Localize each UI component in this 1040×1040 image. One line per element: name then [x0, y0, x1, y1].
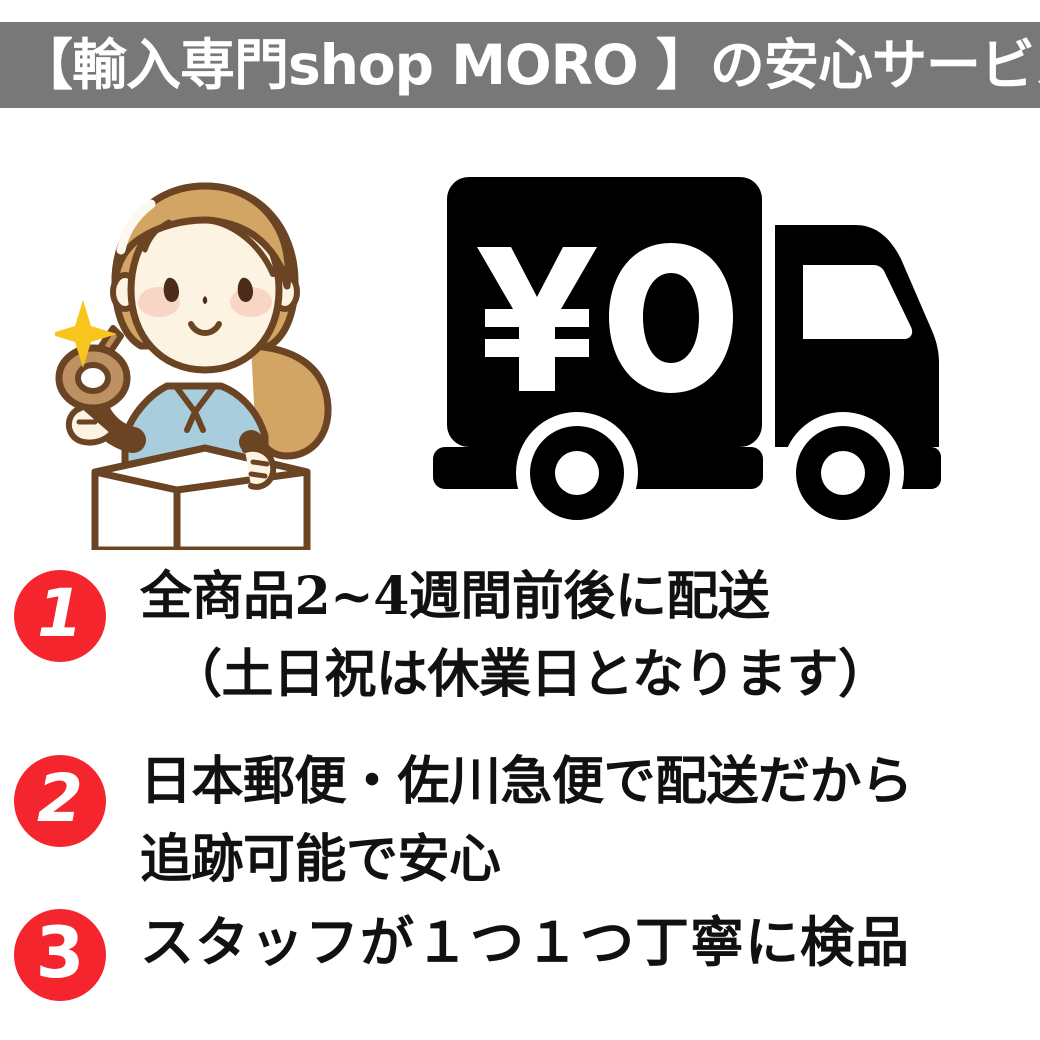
- feature-badge-number-2: 2: [37, 766, 83, 832]
- feature-badge-number-3: 3: [36, 918, 85, 988]
- feature-line: 日本郵便・佐川急便で配送だから: [140, 743, 1030, 821]
- header-banner: 【輸入専門shop MORO 】の安心サービス: [0, 22, 1040, 108]
- woman-inspecting-package-illustration: [55, 150, 355, 550]
- feature-badge-number-1: 1: [37, 581, 83, 647]
- delivery-truck-icon: [425, 155, 950, 535]
- banner-title: 【輸入専門shop MORO 】の安心サービス: [0, 22, 1040, 108]
- feature-text-1: 全商品2~4週間前後に配送 （土日祝は休業日となります）: [140, 558, 1030, 714]
- feature-text-3: スタッフが１つ１つ丁寧に検品: [140, 903, 1030, 981]
- illustration-row: [0, 110, 1040, 530]
- feature-badge-1: 1: [14, 570, 106, 662]
- feature-badge-3: 3: [14, 909, 106, 1001]
- feature-line: 追跡可能で安心: [140, 821, 1030, 899]
- feature-line: 全商品2~4週間前後に配送: [140, 558, 1030, 636]
- service-info-banner-page: 【輸入専門shop MORO 】の安心サービス: [0, 0, 1040, 1040]
- feature-badge-2: 2: [14, 755, 106, 847]
- feature-text-2: 日本郵便・佐川急便で配送だから 追跡可能で安心: [140, 743, 1030, 899]
- feature-line: スタッフが１つ１つ丁寧に検品: [140, 903, 1030, 981]
- feature-list: 1 全商品2~4週間前後に配送 （土日祝は休業日となります） 2 日本郵便・佐川…: [0, 548, 1040, 1040]
- feature-line: （土日祝は休業日となります）: [140, 636, 1030, 714]
